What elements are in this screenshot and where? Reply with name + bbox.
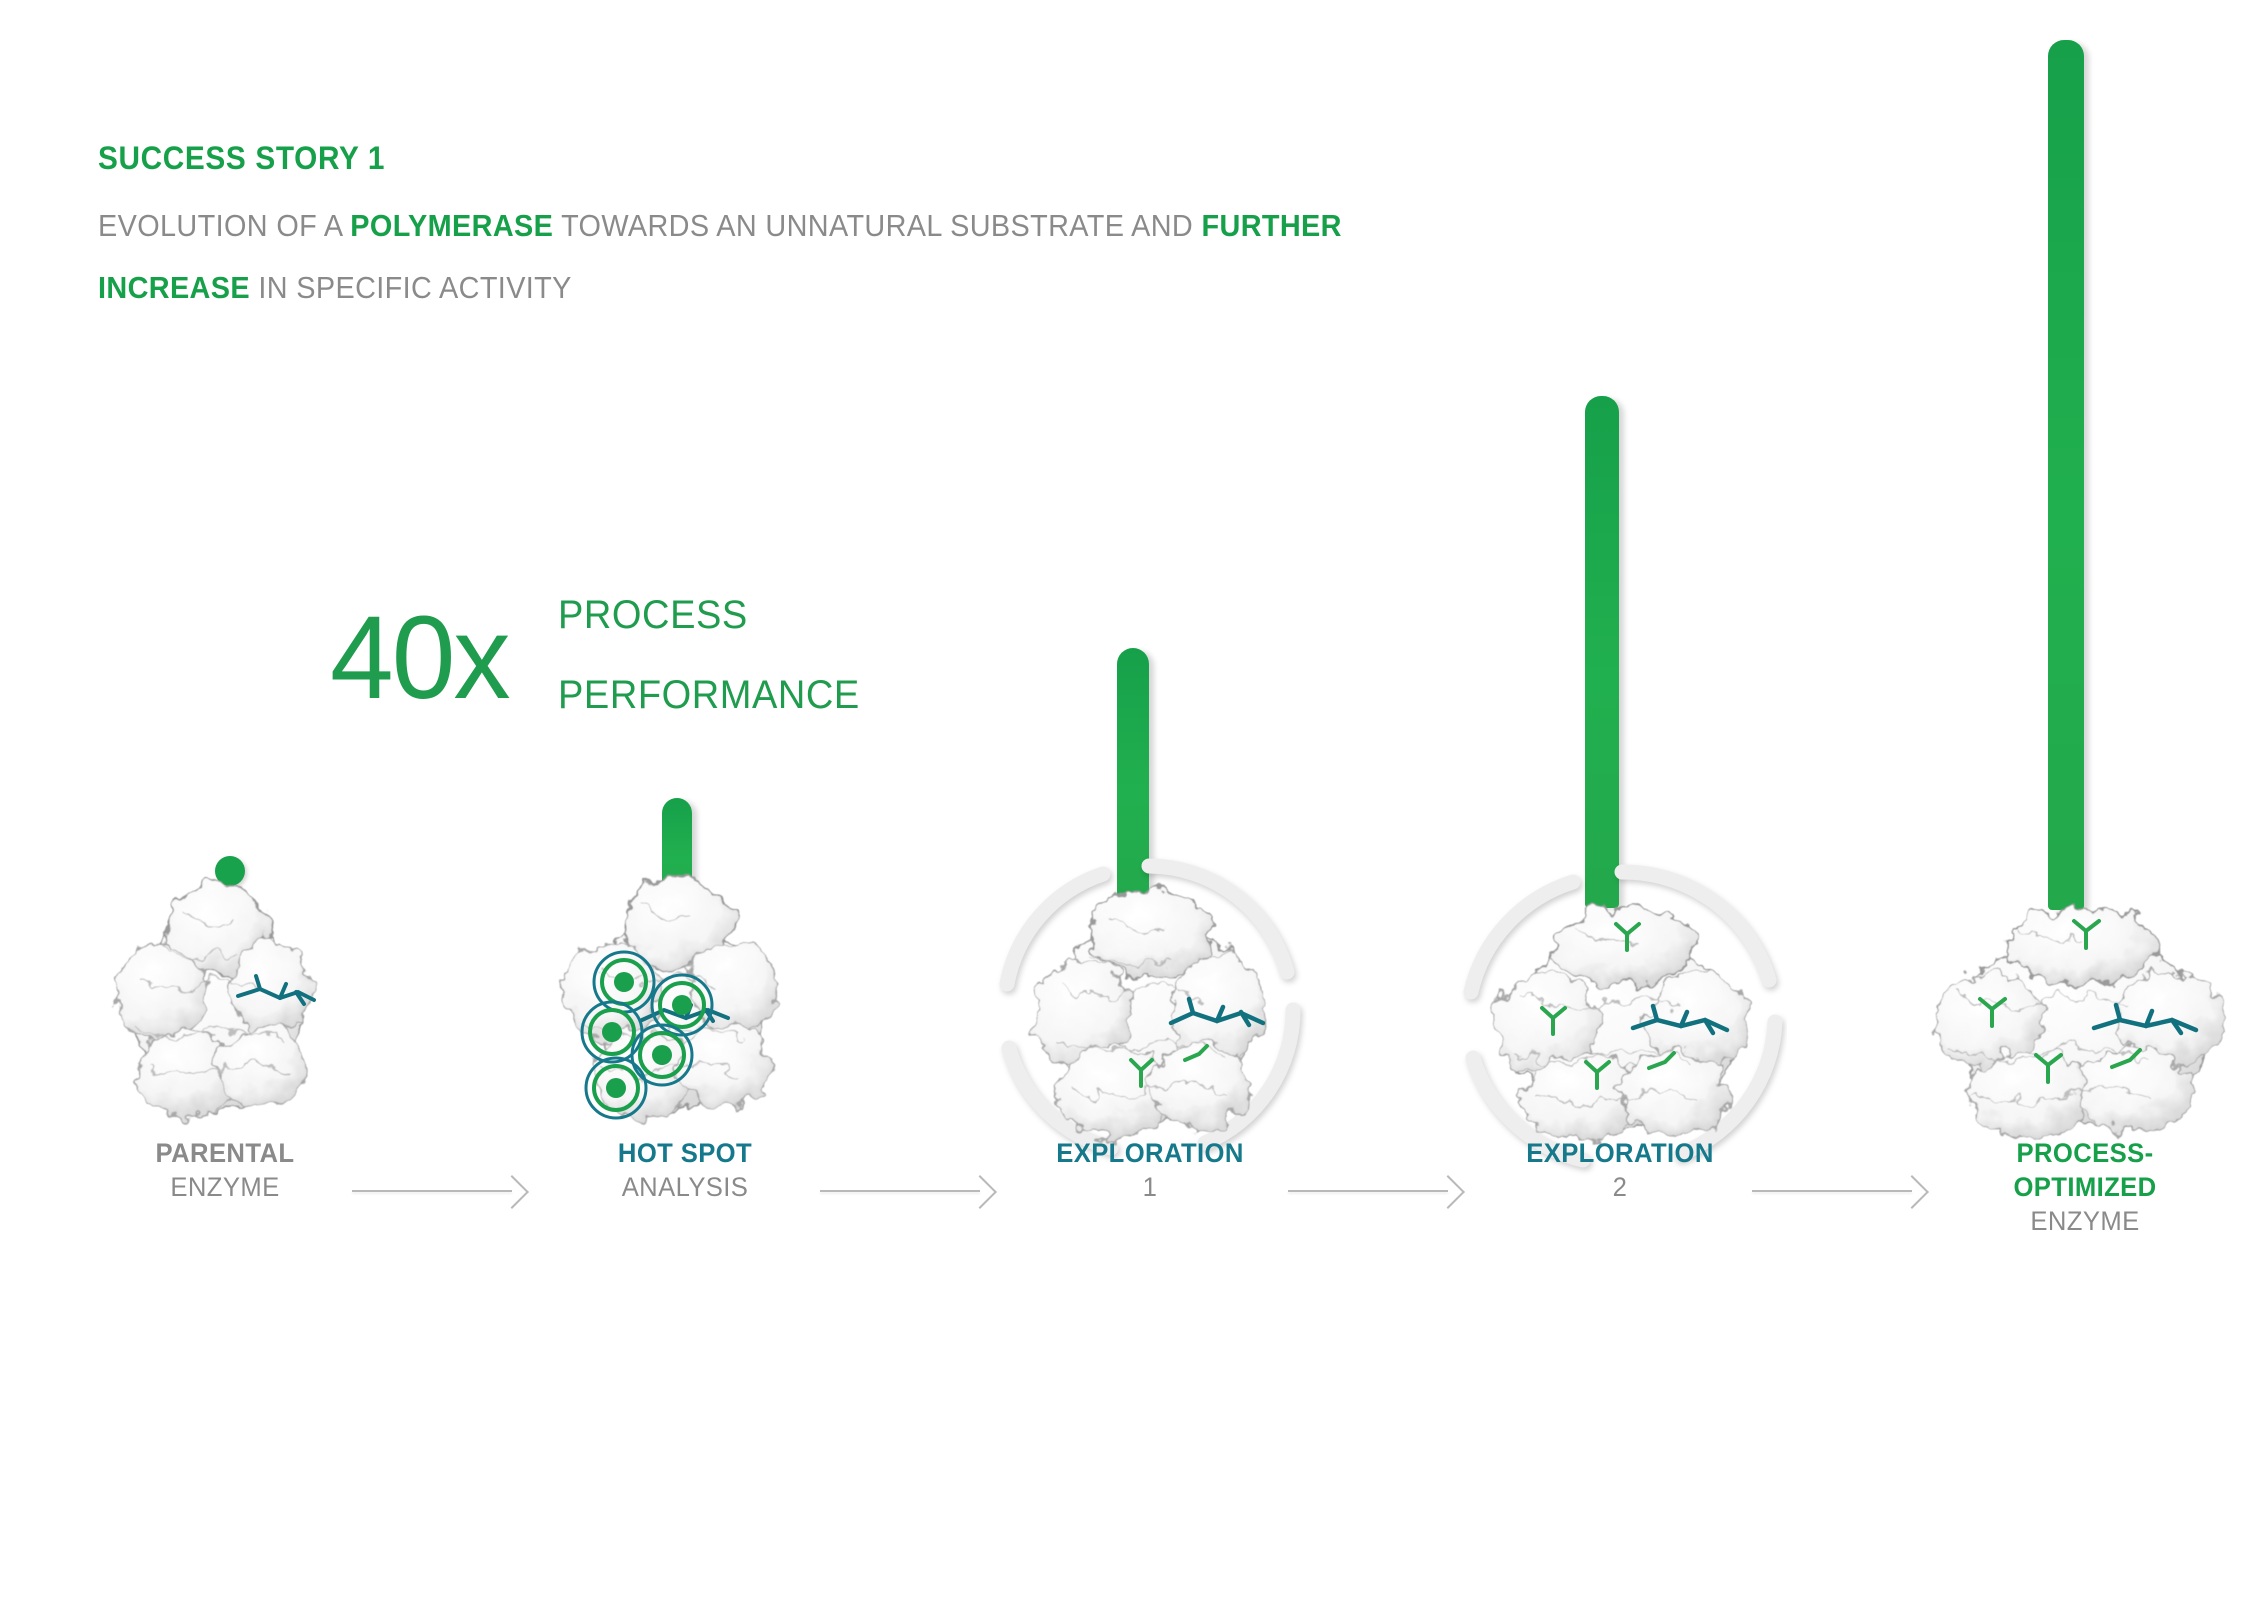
stage-parental-enzyme[interactable]: PARENTAL ENZYME [60, 840, 390, 1600]
stage-label-sub: ANALYSIS [528, 1170, 842, 1204]
stage-label-exploration-2: EXPLORATION 2 [1455, 1136, 1785, 1204]
protein-surface-exploration-2 [1485, 892, 1763, 1148]
stage-label-title: HOT SPOT [528, 1136, 842, 1170]
arrow-shaft [352, 1190, 512, 1192]
performance-bar [1585, 396, 1619, 908]
subtitle-text-c: TOWARDS AN UNNATURAL SUBSTRATE AND [553, 208, 1201, 243]
protein-surface-optimized [1926, 896, 2238, 1146]
kpi-caption: PROCESS PERFORMANCE [558, 575, 876, 741]
kpi-caption-line-1: PROCESS [558, 575, 860, 655]
stage-label-exploration-1: EXPLORATION 1 [985, 1136, 1315, 1204]
kpi-caption-line-2: PERFORMANCE [558, 655, 860, 735]
subtitle-highlight-polymerase: POLYMERASE [350, 208, 553, 243]
stage-hot-spot-analysis[interactable]: HOT SPOT ANALYSIS [520, 840, 850, 1600]
kpi-value: 40x [330, 603, 509, 713]
kpi-process-performance: 40x PROCESS PERFORMANCE [330, 575, 876, 741]
stage-arrow-4 [1752, 1180, 1924, 1202]
page-title: SUCCESS STORY 1 [98, 140, 1865, 177]
stage-exploration-2[interactable]: EXPLORATION 2 [1455, 840, 1785, 1600]
stage-arrow-3 [1288, 1180, 1460, 1202]
stage-process-optimized-enzyme[interactable]: PROCESS- OPTIMIZED ENZYME [1920, 840, 2250, 1600]
protein-surface-hotspot [542, 860, 812, 1120]
stage-label-sub: 1 [993, 1170, 1307, 1204]
arrow-shaft [820, 1190, 980, 1192]
subtitle-line-1: EVOLUTION OF A POLYMERASE TOWARDS AN UNN… [98, 195, 1865, 257]
protein-surface-parental [90, 868, 350, 1118]
stage-label-process-optimized-enzyme: PROCESS- OPTIMIZED ENZYME [1920, 1136, 2250, 1238]
protein-surface-exploration-1 [1021, 878, 1283, 1140]
stage-label-sub: 2 [1463, 1170, 1777, 1204]
stage-label-parental-enzyme: PARENTAL ENZYME [60, 1136, 390, 1204]
subtitle-highlight-increase: INCREASE [98, 270, 250, 305]
stage-label-sub: ENZYME [68, 1170, 382, 1204]
stage-exploration-1[interactable]: EXPLORATION 1 [985, 840, 1315, 1600]
subtitle-highlight-further: FURTHER [1202, 208, 1342, 243]
stage-label-title: PARENTAL [68, 1136, 382, 1170]
stage-arrow-2 [820, 1180, 992, 1202]
subtitle-text-tail: IN SPECIFIC ACTIVITY [250, 270, 572, 305]
header: SUCCESS STORY 1 EVOLUTION OF A POLYMERAS… [98, 140, 1998, 319]
stage-label-hot-spot-analysis: HOT SPOT ANALYSIS [520, 1136, 850, 1204]
arrow-shaft [1752, 1190, 1912, 1192]
stage-arrow-1 [352, 1180, 524, 1202]
subtitle-text-a: EVOLUTION OF A [98, 208, 350, 243]
subtitle-line-2: INCREASE IN SPECIFIC ACTIVITY [98, 257, 1865, 319]
stage-label-title-2: OPTIMIZED [1928, 1170, 2242, 1204]
arrow-shaft [1288, 1190, 1448, 1192]
stage-label-title: EXPLORATION [1463, 1136, 1777, 1170]
stage-label-sub: ENZYME [1928, 1204, 2242, 1238]
performance-bar [2048, 40, 2084, 910]
stage-label-title: PROCESS- [1928, 1136, 2242, 1170]
stage-label-title: EXPLORATION [993, 1136, 1307, 1170]
